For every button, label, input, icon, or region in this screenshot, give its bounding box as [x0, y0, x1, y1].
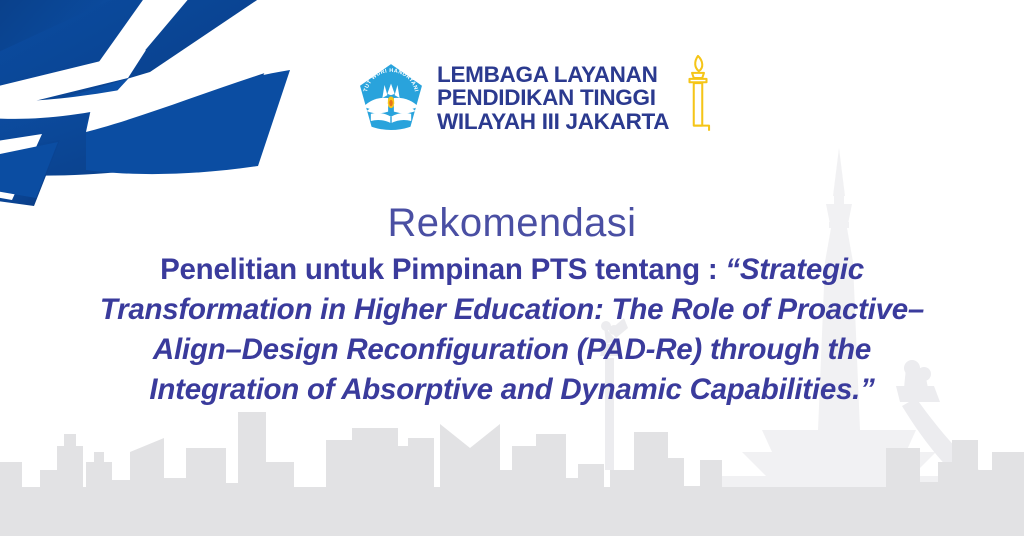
title-line-2: “Strategic	[725, 253, 864, 286]
logo-line-3: WILAYAH III JAKARTA	[437, 110, 669, 133]
kicker-rekomendasi: Rekomendasi	[0, 200, 1024, 246]
headline-block: Rekomendasi Penelitian untuk Pimpinan PT…	[0, 200, 1024, 410]
content-layer: TUT WURI HANDAYANI LEMBAGA LAYANA	[0, 0, 1024, 536]
logo-line-2: PENDIDIKAN TINGGI	[437, 86, 669, 109]
poster-canvas: TUT WURI HANDAYANI LEMBAGA LAYANA	[0, 0, 1024, 536]
title-line-1: Penelitian untuk Pimpinan PTS tentang :	[160, 253, 725, 286]
page-title: Penelitian untuk Pimpinan PTS tentang : …	[97, 250, 927, 410]
monas-monument-icon	[681, 52, 715, 138]
title-line-6: Capabilities.”	[690, 373, 875, 406]
tut-wuri-handayani-emblem: TUT WURI HANDAYANI	[355, 62, 427, 134]
logo-line-1: LEMBAGA LAYANAN	[437, 63, 669, 86]
logo-text-block: LEMBAGA LAYANAN PENDIDIKAN TINGGI WILAYA…	[437, 63, 669, 133]
logo-lockup: TUT WURI HANDAYANI LEMBAGA LAYANA	[355, 58, 715, 138]
title-line-3: Transformation in Higher Education: The …	[100, 293, 770, 326]
